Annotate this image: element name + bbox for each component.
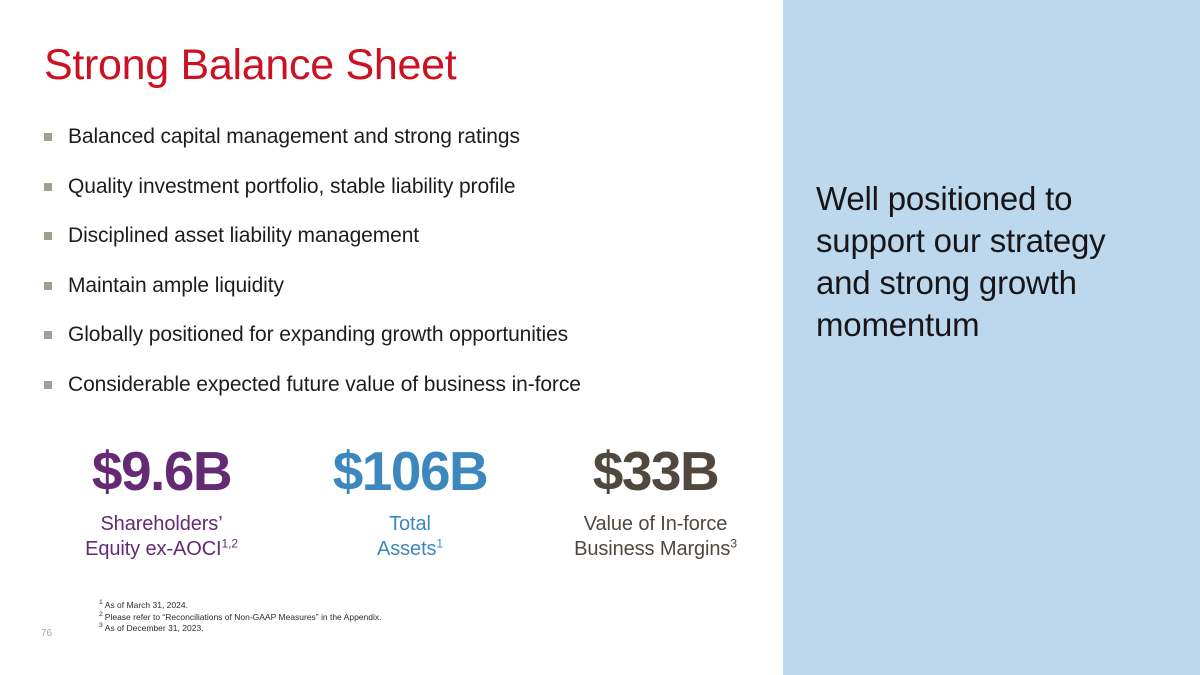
footnote-text: As of December 31, 2023. <box>105 623 204 633</box>
page-number: 76 <box>41 628 52 639</box>
square-bullet-icon <box>44 331 52 339</box>
list-item: Globally positioned for expanding growth… <box>44 322 744 372</box>
stat-label-line2: Equity ex-AOCI <box>85 538 221 560</box>
list-item: Considerable expected future value of bu… <box>44 372 744 422</box>
footnote-text: As of March 31, 2024. <box>105 600 188 610</box>
callout-text: Well positioned to support our strategy … <box>816 178 1156 346</box>
stat-label-line1: Shareholders’ <box>100 513 222 535</box>
footnotes: 1As of March 31, 2024. 2Please refer to … <box>99 600 382 635</box>
list-item: Quality investment portfolio, stable lia… <box>44 174 744 224</box>
stat-label: Total Assets1 <box>302 512 518 562</box>
footnote-text: Please refer to “Reconciliations of Non-… <box>105 612 382 622</box>
stat-value: $9.6B <box>44 440 279 502</box>
square-bullet-icon <box>44 381 52 389</box>
callout-panel: Well positioned to support our strategy … <box>783 0 1200 675</box>
list-item: Maintain ample liquidity <box>44 273 744 323</box>
footnote-item: 3As of December 31, 2023. <box>99 623 382 635</box>
square-bullet-icon <box>44 183 52 191</box>
page-title: Strong Balance Sheet <box>44 41 456 90</box>
footnote-item: 1As of March 31, 2024. <box>99 600 382 612</box>
stat-footnote-marker: 1,2 <box>222 536 238 550</box>
slide-canvas: Well positioned to support our strategy … <box>0 0 1200 675</box>
square-bullet-icon <box>44 232 52 240</box>
stat-label: Shareholders’ Equity ex-AOCI1,2 <box>44 512 279 562</box>
footnote-marker: 3 <box>99 622 103 629</box>
list-item-label: Considerable expected future value of bu… <box>68 372 581 398</box>
bullet-list: Balanced capital management and strong r… <box>44 124 744 421</box>
stat-inforce-business-margins: $33B Value of In-force Business Margins3 <box>534 440 777 562</box>
footnote-marker: 2 <box>99 611 103 618</box>
list-item: Balanced capital management and strong r… <box>44 124 744 174</box>
footnote-marker: 1 <box>99 599 103 606</box>
stat-footnote-marker: 3 <box>730 536 737 550</box>
stat-label: Value of In-force Business Margins3 <box>534 512 777 562</box>
stat-value: $106B <box>302 440 518 502</box>
stat-total-assets: $106B Total Assets1 <box>302 440 518 562</box>
stat-label-line2: Business Margins <box>574 538 730 560</box>
stat-label-line1: Total <box>389 513 431 535</box>
list-item-label: Globally positioned for expanding growth… <box>68 322 568 348</box>
stat-footnote-marker: 1 <box>436 536 443 550</box>
square-bullet-icon <box>44 133 52 141</box>
key-statistics: $9.6B Shareholders’ Equity ex-AOCI1,2 $1… <box>44 440 744 580</box>
stat-label-line2: Assets <box>377 538 436 560</box>
list-item-label: Balanced capital management and strong r… <box>68 124 520 150</box>
list-item-label: Maintain ample liquidity <box>68 273 284 299</box>
list-item: Disciplined asset liability management <box>44 223 744 273</box>
footnote-item: 2Please refer to “Reconciliations of Non… <box>99 612 382 624</box>
list-item-label: Quality investment portfolio, stable lia… <box>68 174 515 200</box>
stat-value: $33B <box>534 440 777 502</box>
list-item-label: Disciplined asset liability management <box>68 223 419 249</box>
square-bullet-icon <box>44 282 52 290</box>
stat-label-line1: Value of In-force <box>584 513 728 535</box>
stat-shareholders-equity: $9.6B Shareholders’ Equity ex-AOCI1,2 <box>44 440 279 562</box>
